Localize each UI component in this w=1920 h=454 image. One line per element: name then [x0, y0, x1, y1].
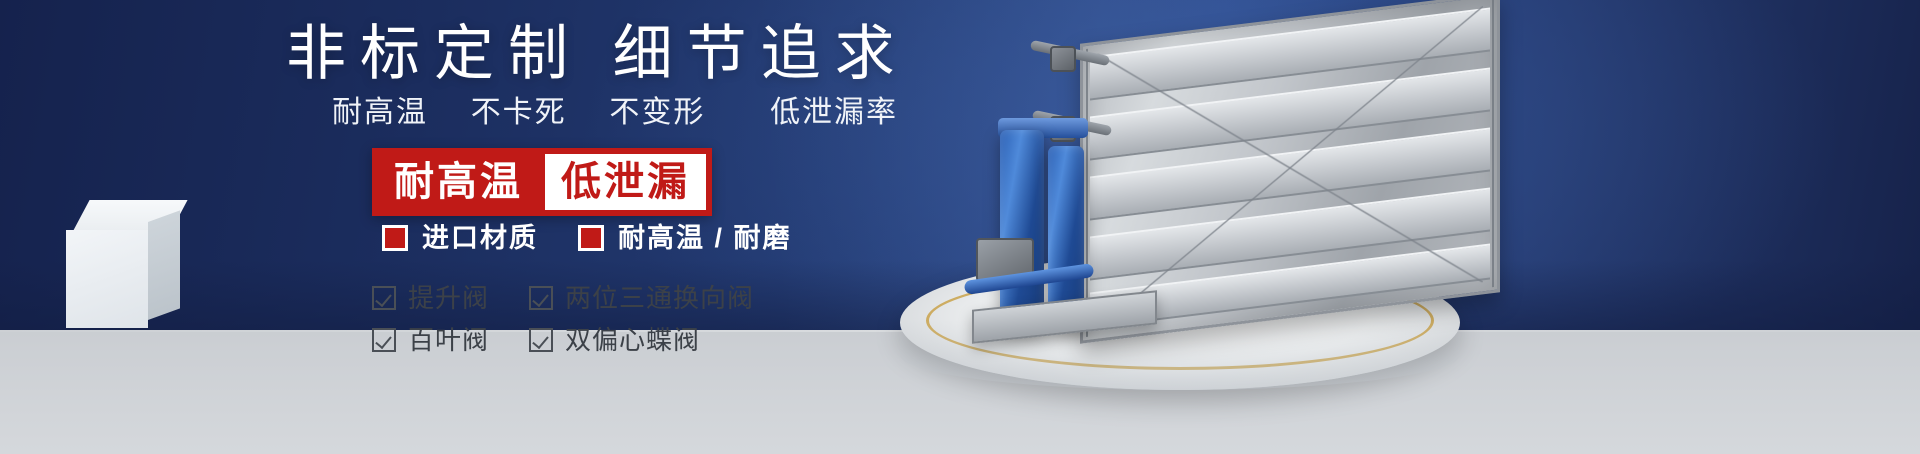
checklist-item-two-position-three-way-valve: 两位三通换向阀	[529, 283, 754, 313]
checkbox-checked-icon	[372, 328, 396, 352]
checkbox-checked-icon	[529, 328, 553, 352]
cube-side-face	[148, 210, 180, 320]
product-image	[880, 0, 1920, 454]
red-square-bullet-icon	[382, 225, 408, 251]
bullet-label: 耐高温 / 耐磨	[618, 222, 792, 254]
red-square-bullet-icon	[578, 225, 604, 251]
subheadline-part-1: 耐高温	[332, 96, 428, 129]
checklist-label: 双偏心蝶阀	[565, 325, 700, 355]
hydraulic-cylinder	[1000, 130, 1044, 330]
bullet-item-imported-material: 进口材质	[382, 222, 538, 254]
checklist-item-double-eccentric-butterfly-valve: 双偏心蝶阀	[529, 325, 754, 355]
product-checklist: 提升阀 两位三通换向阀 百叶阀 双偏心蝶阀	[372, 283, 754, 355]
feature-bullet-list: 进口材质 耐高温 / 耐磨	[382, 222, 792, 254]
feature-badge: 耐高温 低泄漏	[372, 148, 712, 216]
subheadline-part-4: 低泄漏率	[770, 96, 898, 129]
bullet-label: 进口材质	[422, 222, 538, 254]
checklist-label: 百叶阀	[408, 325, 489, 355]
badge-label-low-leakage: 低泄漏	[545, 154, 706, 210]
damper-pivot-post	[1050, 46, 1076, 72]
subheadline-part-2: 不卡死	[471, 96, 567, 129]
banner-subheadline: 耐高温 不卡死 不变形 低泄漏率	[332, 94, 898, 132]
subheadline-part-3: 不变形	[609, 96, 705, 129]
damper-cross-brace	[1097, 6, 1483, 329]
white-cube-decoration	[66, 200, 192, 328]
cube-front-face	[66, 230, 148, 328]
banner-headline: 非标定制 细节追求	[286, 18, 909, 90]
checklist-item-louver-valve: 百叶阀	[372, 325, 489, 355]
checklist-item-lift-valve: 提升阀	[372, 283, 489, 313]
checkbox-checked-icon	[372, 286, 396, 310]
checklist-label: 提升阀	[408, 283, 489, 313]
bullet-item-heat-wear-resistant: 耐高温 / 耐磨	[578, 222, 792, 254]
checklist-label: 两位三通换向阀	[565, 283, 754, 313]
badge-label-heat-resistant: 耐高温	[378, 154, 545, 210]
checkbox-checked-icon	[529, 286, 553, 310]
promo-banner: 非标定制 细节追求 耐高温 不卡死 不变形 低泄漏率 耐高温 低泄漏 进口材质 …	[0, 0, 1920, 454]
